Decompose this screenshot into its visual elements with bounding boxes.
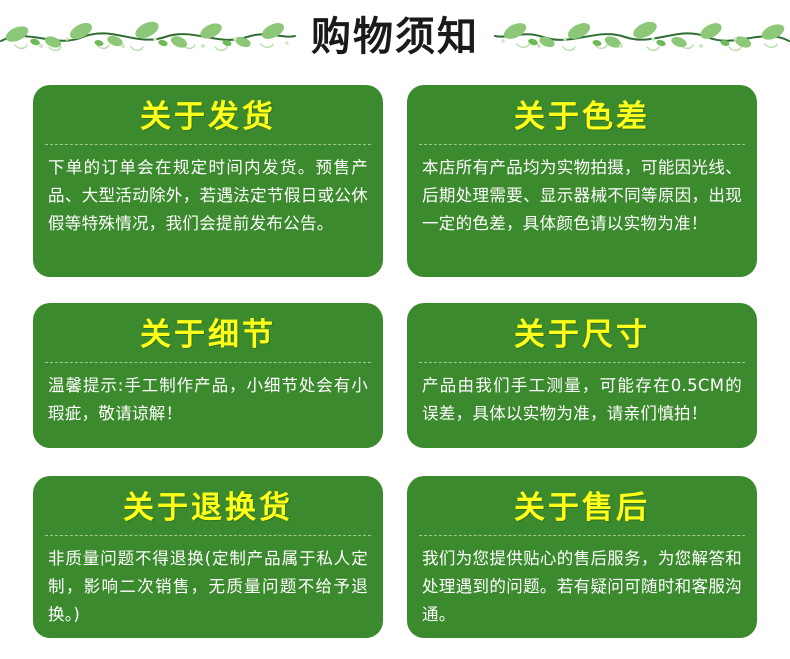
page-header: 购物须知 [0, 0, 790, 74]
card-divider [45, 535, 371, 536]
card-divider [45, 144, 371, 145]
notice-card-details: 关于细节 温馨提示:手工制作产品，小细节处会有小瑕疵，敬请谅解！ [33, 303, 383, 448]
notice-card-color-difference: 关于色差 本店所有产品均为实物拍摄，可能因光线、后期处理需要、显示器械不同等原因… [407, 85, 757, 277]
card-title: 关于退换货 [45, 490, 371, 528]
card-row: 关于发货 下单的订单会在规定时间内发货。预售产品、大型活动除外，若遇法定节假日或… [33, 85, 757, 277]
card-body: 非质量问题不得退换(定制产品属于私人定制，影响二次销售，无质量问题不给予退换。) [45, 545, 371, 629]
card-row: 关于退换货 非质量问题不得退换(定制产品属于私人定制，影响二次销售，无质量问题不… [33, 476, 757, 638]
leafy-vine-ornament-left [0, 17, 297, 57]
card-body: 温馨提示:手工制作产品，小细节处会有小瑕疵，敬请谅解！ [45, 372, 371, 428]
card-body: 产品由我们手工测量，可能存在0.5CM的误差，具体以实物为准，请亲们慎拍！ [419, 372, 745, 428]
card-body: 本店所有产品均为实物拍摄，可能因光线、后期处理需要、显示器械不同等原因，出现一定… [419, 154, 745, 238]
shopping-notice-page: 购物须知 [0, 0, 790, 659]
notice-card-grid: 关于发货 下单的订单会在规定时间内发货。预售产品、大型活动除外，若遇法定节假日或… [33, 85, 757, 638]
notice-card-size: 关于尺寸 产品由我们手工测量，可能存在0.5CM的误差，具体以实物为准，请亲们慎… [407, 303, 757, 448]
notice-card-shipping: 关于发货 下单的订单会在规定时间内发货。预售产品、大型活动除外，若遇法定节假日或… [33, 85, 383, 277]
card-title: 关于细节 [45, 317, 371, 355]
card-body: 下单的订单会在规定时间内发货。预售产品、大型活动除外，若遇法定节假日或公休假等特… [45, 154, 371, 238]
card-divider [45, 362, 371, 363]
card-title: 关于发货 [45, 99, 371, 137]
card-body: 我们为您提供贴心的售后服务，为您解答和处理遇到的问题。若有疑问可随时和客服沟通。 [419, 545, 745, 629]
notice-card-returns-exchanges: 关于退换货 非质量问题不得退换(定制产品属于私人定制，影响二次销售，无质量问题不… [33, 476, 383, 638]
card-row: 关于细节 温馨提示:手工制作产品，小细节处会有小瑕疵，敬请谅解！ 关于尺寸 产品… [33, 303, 757, 448]
leafy-vine-ornament-right [493, 17, 790, 57]
card-divider [419, 535, 745, 536]
card-title: 关于色差 [419, 99, 745, 137]
page-title: 购物须知 [297, 17, 493, 57]
card-title: 关于售后 [419, 490, 745, 528]
card-divider [419, 144, 745, 145]
notice-card-after-sales: 关于售后 我们为您提供贴心的售后服务，为您解答和处理遇到的问题。若有疑问可随时和… [407, 476, 757, 638]
card-title: 关于尺寸 [419, 317, 745, 355]
card-divider [419, 362, 745, 363]
